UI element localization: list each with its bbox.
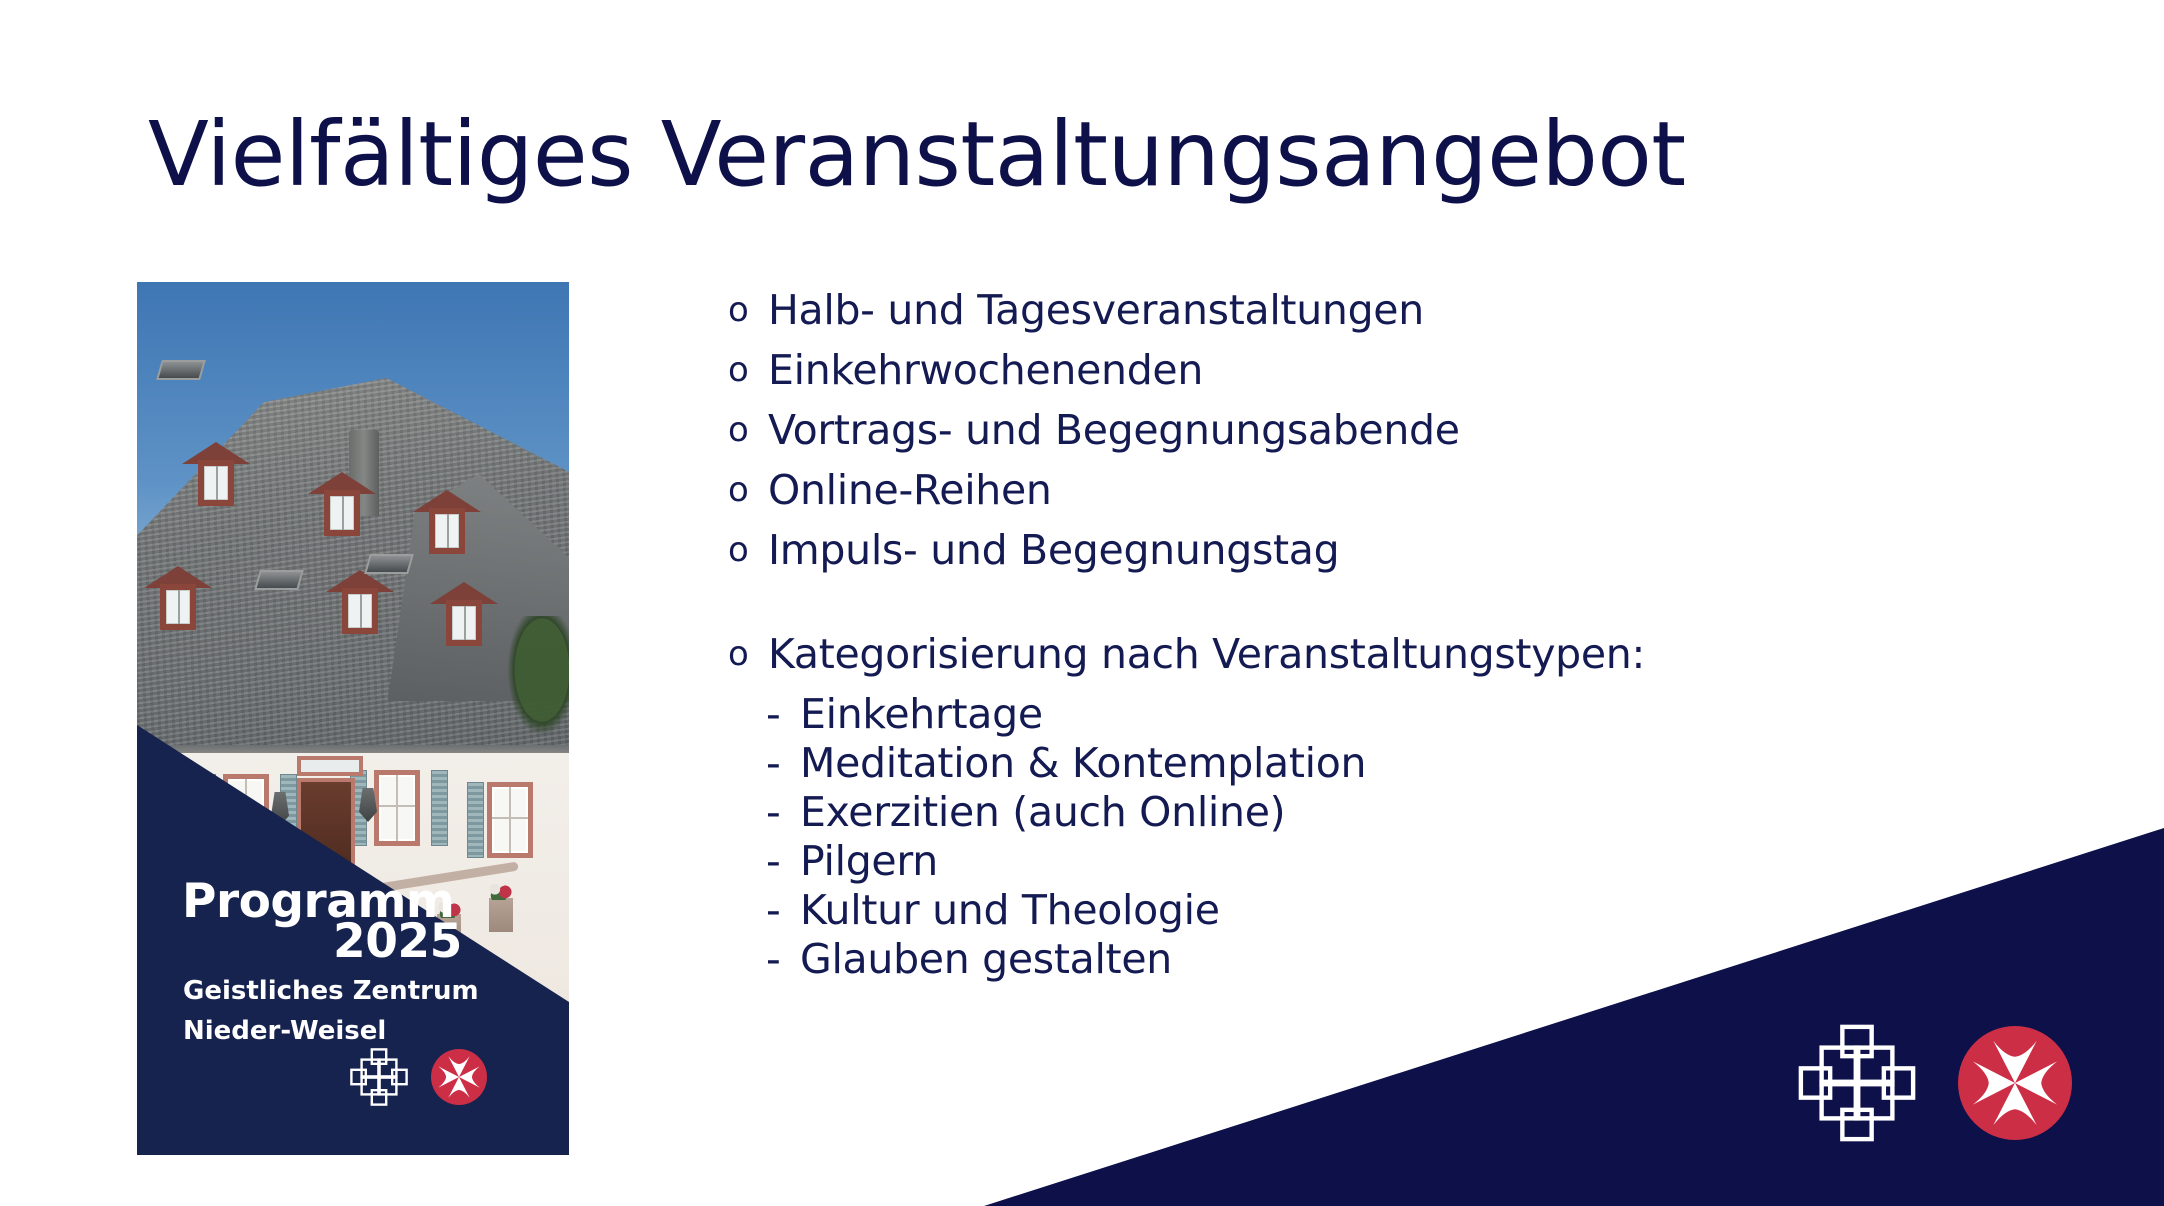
bullet-marker: o — [728, 410, 768, 450]
maltese-cross-glyph — [431, 1049, 487, 1105]
list-item: o Kategorisierung nach Veranstaltungstyp… — [728, 634, 1948, 675]
bullet-marker: o — [728, 634, 768, 674]
list-item: o Online-Reihen — [728, 470, 1948, 511]
bullet-marker: o — [728, 470, 768, 510]
sub-list-item-label: Exerzitien (auch Online) — [800, 792, 1285, 833]
corner-logo-row — [1796, 1022, 2072, 1144]
maltese-cross-icon — [431, 1049, 487, 1105]
sub-list-item-label: Kultur und Theologie — [800, 890, 1220, 931]
brochure-logo-row — [349, 1047, 487, 1107]
johanniter-square-cross-icon — [1796, 1022, 1918, 1144]
page-title: Vielfältiges Veranstaltungsangebot — [148, 108, 1686, 201]
brochure-organisation-line2: Nieder-Weisel — [183, 1016, 386, 1046]
list-item-label: Online-Reihen — [768, 470, 1052, 511]
slide-canvas: Vielfältiges Veranstaltungsangebot — [0, 0, 2164, 1206]
johanniter-square-cross-glyph — [1796, 1022, 1918, 1144]
brochure-year: 2025 — [333, 914, 462, 969]
brochure-organisation-line1: Geistliches Zentrum — [183, 976, 479, 1006]
list-item: o Einkehrwochenenden — [728, 350, 1948, 391]
dash-marker: - — [766, 694, 800, 735]
bullet-marker: o — [728, 290, 768, 330]
sub-list-item-label: Meditation & Kontemplation — [800, 743, 1366, 784]
sub-list-item: - Pilgern — [728, 841, 1948, 882]
bullet-marker: o — [728, 530, 768, 570]
sub-list-item-label: Einkehrtage — [800, 694, 1043, 735]
list-item-label: Einkehrwochenenden — [768, 350, 1203, 391]
list-item-label: Kategorisierung nach Veranstaltungstypen… — [768, 634, 1645, 675]
sub-list-item: - Glauben gestalten — [728, 939, 1948, 980]
list-item-label: Halb- und Tagesveranstaltungen — [768, 290, 1424, 331]
sub-list-item: - Kultur und Theologie — [728, 890, 1948, 931]
dash-marker: - — [766, 939, 800, 980]
brochure-cover-image: Programm 2025 Geistliches Zentrum Nieder… — [137, 282, 569, 1155]
dash-marker: - — [766, 792, 800, 833]
maltese-cross-glyph — [1958, 1026, 2072, 1140]
list-item-label: Vortrags- und Begegnungsabende — [768, 410, 1460, 451]
event-types-list: o Halb- und Tagesveranstaltungen o Einke… — [728, 290, 1948, 988]
sub-list-item-label: Pilgern — [800, 841, 938, 882]
brochure-text-block: Programm 2025 Geistliches Zentrum Nieder… — [137, 282, 569, 1155]
dash-marker: - — [766, 841, 800, 882]
sub-list-item: - Meditation & Kontemplation — [728, 743, 1948, 784]
maltese-cross-icon — [1958, 1026, 2072, 1140]
sub-list-item-label: Glauben gestalten — [800, 939, 1172, 980]
list-group-spacer — [728, 590, 1948, 634]
list-item: o Vortrags- und Begegnungsabende — [728, 410, 1948, 451]
johanniter-square-cross-icon — [349, 1047, 409, 1107]
dash-marker: - — [766, 743, 800, 784]
list-item-label: Impuls- und Begegnungstag — [768, 530, 1339, 571]
johanniter-square-cross-glyph — [349, 1047, 409, 1107]
sub-list-item: - Einkehrtage — [728, 694, 1948, 735]
list-item: o Halb- und Tagesveranstaltungen — [728, 290, 1948, 331]
dash-marker: - — [766, 890, 800, 931]
sub-list-item: - Exerzitien (auch Online) — [728, 792, 1948, 833]
bullet-marker: o — [728, 350, 768, 390]
list-item: o Impuls- und Begegnungstag — [728, 530, 1948, 571]
